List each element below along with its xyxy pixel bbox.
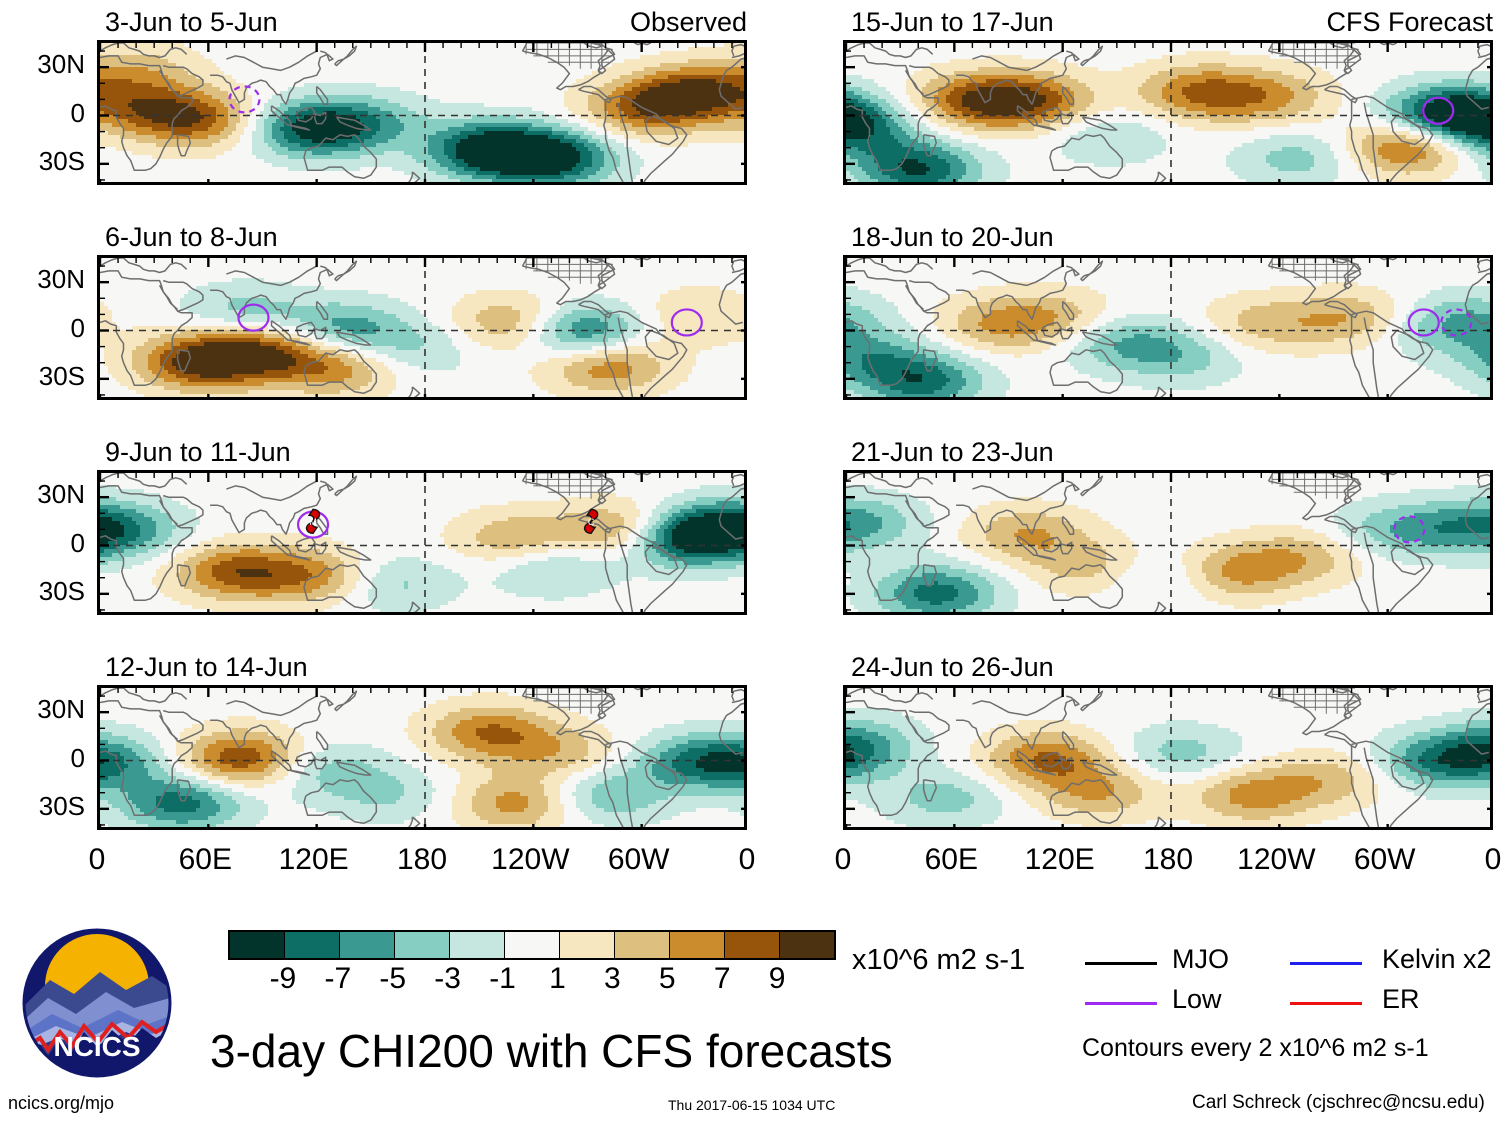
colorbar-segment	[614, 932, 669, 958]
x-tick-label: 120E	[1015, 845, 1105, 875]
colorbar	[228, 930, 836, 960]
map-p5	[843, 40, 1493, 185]
legend-line-low	[1085, 1002, 1157, 1005]
map-p2	[97, 255, 747, 400]
y-tick-label: 30N	[5, 696, 85, 722]
colorbar-segment	[779, 932, 834, 958]
x-tick-label: 0	[798, 845, 888, 875]
colorbar-segment	[284, 932, 339, 958]
map-canvas	[846, 258, 1493, 400]
map-p1	[97, 40, 747, 185]
shaded-field	[846, 258, 1493, 400]
colorbar-tick-label: 1	[527, 964, 587, 994]
map-p7	[843, 470, 1493, 615]
y-tick-label: 30S	[5, 793, 85, 819]
legend-line-kelvin-x2	[1290, 962, 1362, 965]
colorbar-segment	[724, 932, 779, 958]
map-canvas	[100, 258, 747, 400]
shaded-field	[846, 688, 1493, 830]
x-tick-label: 120W	[485, 845, 575, 875]
x-tick-label: 60W	[594, 845, 684, 875]
legend-label-low: Low	[1172, 986, 1222, 1013]
panel-title-p3: 9-Jun to 11-Jun	[105, 439, 291, 466]
colorbar-segment	[669, 932, 724, 958]
colorbar-tick-label: 3	[582, 964, 642, 994]
author-label: Carl Schreck (cjschrec@ncsu.edu)	[1192, 1093, 1485, 1112]
colorbar-segment	[504, 932, 559, 958]
map-p8	[843, 685, 1493, 830]
x-tick-label: 0	[702, 845, 792, 875]
y-tick-label: 0	[5, 745, 85, 771]
shaded-field	[846, 43, 1493, 185]
x-tick-label: 60W	[1340, 845, 1430, 875]
y-tick-label: 0	[5, 530, 85, 556]
x-tick-label: 60E	[160, 845, 250, 875]
map-p4	[97, 685, 747, 830]
shaded-field	[100, 688, 747, 830]
contour-interval-note: Contours every 2 x10^6 m2 s-1	[1082, 1036, 1429, 1061]
y-tick-label: 30N	[5, 266, 85, 292]
column-label-right: CFS Forecast	[0, 9, 1493, 36]
colorbar-segment	[559, 932, 614, 958]
timestamp-label: Thu 2017-06-15 1034 UTC	[668, 1098, 835, 1112]
shaded-field	[846, 473, 1493, 615]
colorbar-segment	[230, 932, 284, 958]
map-canvas: MC	[100, 473, 747, 615]
map-canvas	[100, 43, 747, 185]
panel-title-p4: 12-Jun to 14-Jun	[105, 654, 308, 681]
legend-line-mjo	[1085, 962, 1157, 965]
x-tick-label: 180	[1123, 845, 1213, 875]
y-tick-label: 30N	[5, 51, 85, 77]
shaded-field	[100, 43, 747, 185]
colorbar-tick-label: -9	[253, 964, 313, 994]
shaded-field	[100, 473, 747, 615]
ncics-logo-svg: NCICS	[22, 928, 172, 1078]
ncics-logo: NCICS	[22, 928, 172, 1078]
panel-title-p8: 24-Jun to 26-Jun	[851, 654, 1054, 681]
colorbar-segment	[339, 932, 394, 958]
shaded-field	[100, 258, 747, 400]
y-tick-label: 30S	[5, 148, 85, 174]
legend-label-mjo: MJO	[1172, 946, 1229, 973]
colorbar-tick-label: 7	[692, 964, 752, 994]
colorbar-tick-label: -7	[308, 964, 368, 994]
map-canvas	[100, 688, 747, 830]
y-tick-label: 30S	[5, 578, 85, 604]
colorbar-units-label: x10^6 m2 s-1	[852, 946, 1025, 975]
panel-title-p2: 6-Jun to 8-Jun	[105, 224, 278, 251]
colorbar-tick-label: -3	[418, 964, 478, 994]
ncics-logo-text: NCICS	[53, 1031, 140, 1062]
site-url-label: ncics.org/mjo	[8, 1094, 114, 1112]
y-tick-label: 0	[5, 315, 85, 341]
panel-title-p7: 21-Jun to 23-Jun	[851, 439, 1054, 466]
map-canvas	[846, 688, 1493, 830]
x-tick-label: 0	[52, 845, 142, 875]
y-tick-label: 0	[5, 100, 85, 126]
y-tick-label: 30N	[5, 481, 85, 507]
map-p3: MC	[97, 470, 747, 615]
legend-label-er: ER	[1382, 986, 1420, 1013]
colorbar-tick-label: -1	[473, 964, 533, 994]
colorbar-tick-label: -5	[363, 964, 423, 994]
map-canvas	[846, 43, 1493, 185]
panel-title-p6: 18-Jun to 20-Jun	[851, 224, 1054, 251]
colorbar-segment	[394, 932, 449, 958]
x-tick-label: 120E	[269, 845, 359, 875]
x-tick-label: 0	[1448, 845, 1510, 875]
y-tick-label: 30S	[5, 363, 85, 389]
map-canvas	[846, 473, 1493, 615]
map-p6	[843, 255, 1493, 400]
main-title: 3-day CHI200 with CFS forecasts	[210, 1028, 893, 1074]
colorbar-tick-label: 9	[747, 964, 807, 994]
x-tick-label: 180	[377, 845, 467, 875]
legend-label-kelvin-x2: Kelvin x2	[1382, 946, 1492, 973]
colorbar-segment	[449, 932, 504, 958]
x-tick-label: 120W	[1231, 845, 1321, 875]
x-tick-label: 60E	[906, 845, 996, 875]
legend-line-er	[1290, 1002, 1362, 1005]
colorbar-tick-label: 5	[637, 964, 697, 994]
